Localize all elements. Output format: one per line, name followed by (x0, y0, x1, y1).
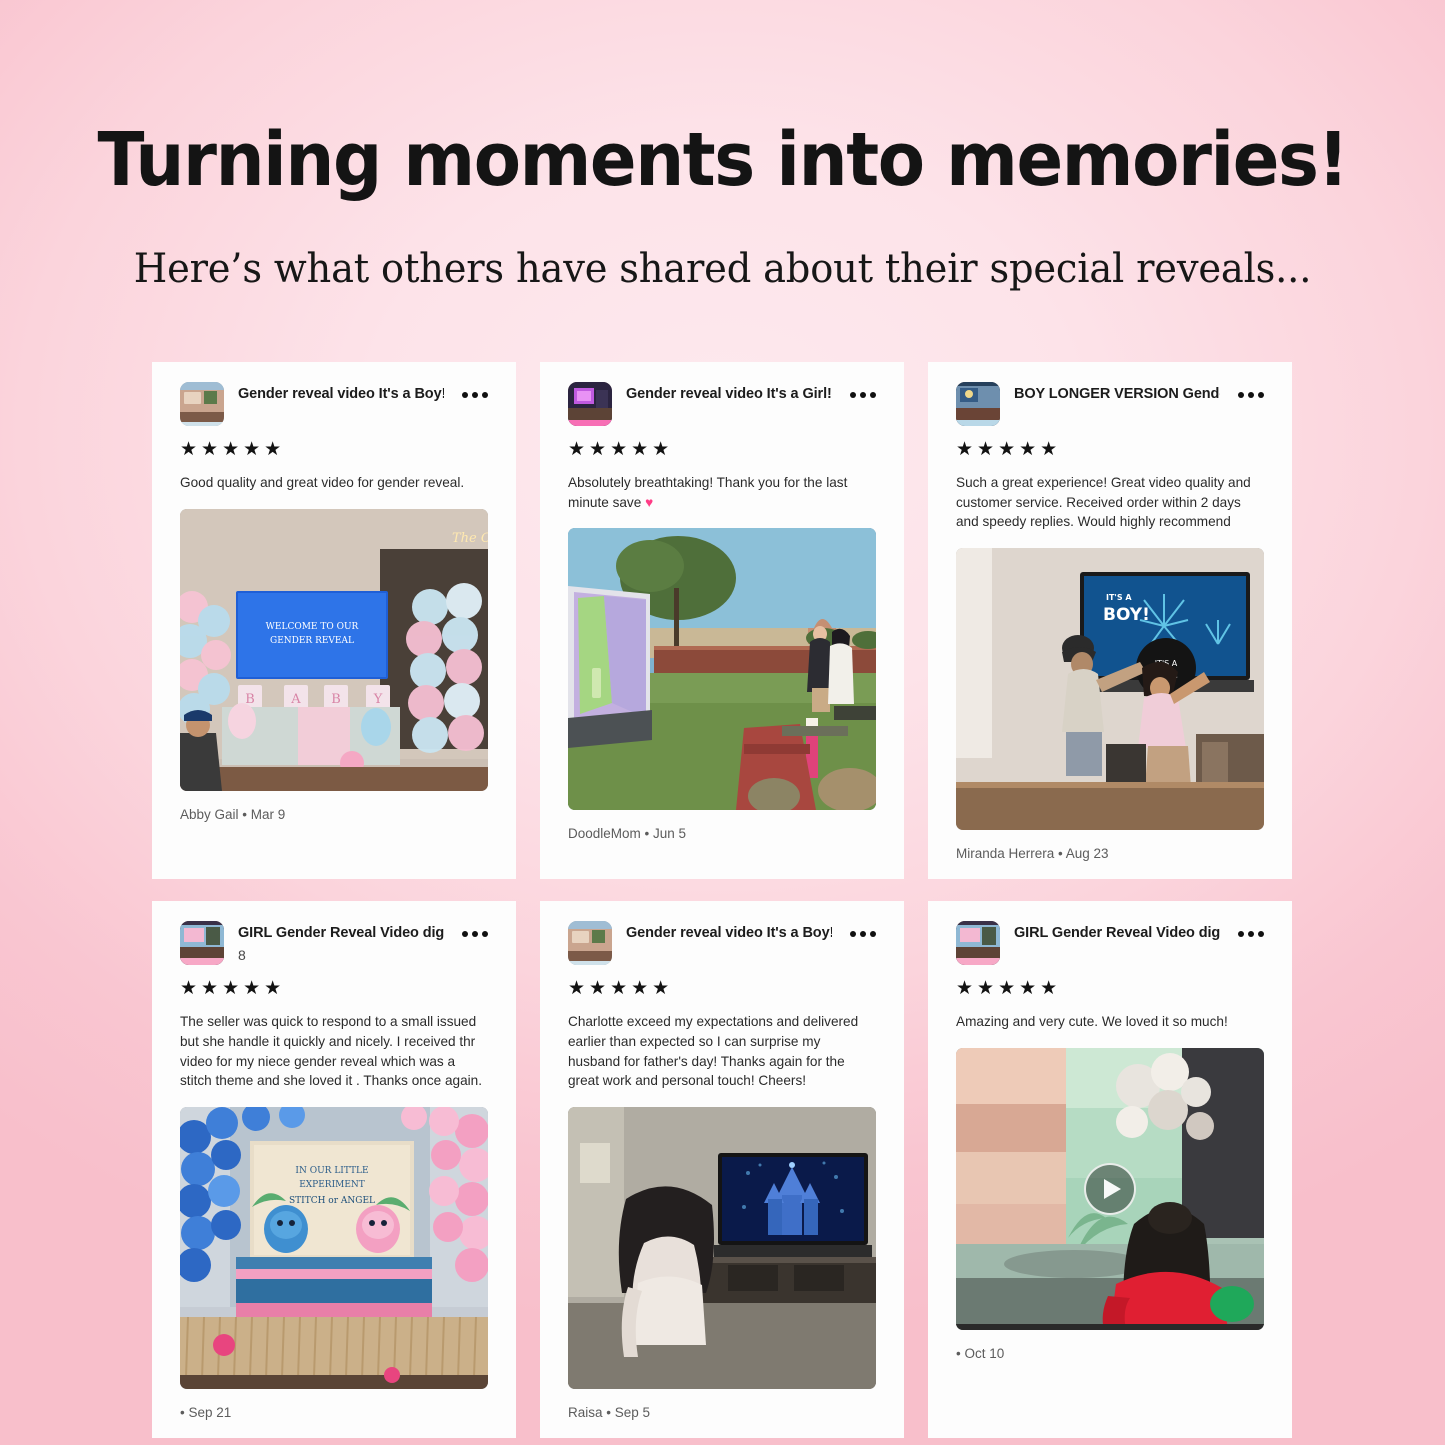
more-horizontal-icon[interactable] (1238, 921, 1264, 937)
review-video-thumbnail[interactable] (956, 1048, 1264, 1330)
listing-title[interactable]: GIRL Gender Reveal Video digital ... (1014, 924, 1220, 942)
review-text: The seller was quick to respond to a sma… (180, 1012, 488, 1091)
review-card-header: GIRL Gender Reveal Video digital ... 8 (180, 921, 488, 965)
listing-info: GIRL Gender Reveal Video digital ... (1014, 921, 1220, 942)
review-card[interactable]: BOY LONGER VERSION Gender ... ★★★★★ Such… (928, 362, 1292, 879)
review-card[interactable]: GIRL Gender Reveal Video digital ... 8 ★… (152, 901, 516, 1438)
svg-text:BOY!: BOY! (1103, 605, 1150, 625)
review-text: Amazing and very cute. We loved it so mu… (956, 1012, 1264, 1032)
page-title: Turning moments into memories! (51, 122, 1395, 200)
star-rating: ★★★★★ (180, 440, 488, 459)
review-byline: Miranda Herrera • Aug 23 (956, 846, 1264, 861)
listing-thumbnail[interactable] (180, 921, 224, 965)
review-card-header: Gender reveal video It's a Girl! Vide... (568, 382, 876, 426)
review-photo[interactable]: The C WELCOME TO OUR GENDER REVEAL BABY (180, 509, 488, 791)
review-card[interactable]: Gender reveal video It's a Boy! Vide... … (152, 362, 516, 879)
more-horizontal-icon[interactable] (1238, 382, 1264, 398)
review-byline: DoodleMom • Jun 5 (568, 826, 876, 841)
review-text-body: Absolutely breathtaking! Thank you for t… (568, 475, 847, 510)
more-horizontal-icon[interactable] (850, 921, 876, 937)
review-photo[interactable]: IN OUR LITTLE EXPERIMENT STITCH or ANGEL (180, 1107, 488, 1389)
review-text: Good quality and great video for gender … (180, 473, 488, 493)
svg-text:GENDER REVEAL: GENDER REVEAL (270, 636, 354, 646)
listing-title[interactable]: Gender reveal video It's a Girl! Vide... (626, 385, 832, 403)
review-card-header: GIRL Gender Reveal Video digital ... (956, 921, 1264, 965)
listing-thumbnail[interactable] (568, 921, 612, 965)
review-photo[interactable] (568, 1107, 876, 1389)
listing-info: Gender reveal video It's a Boy! Vide... (238, 382, 444, 403)
svg-text:WELCOME TO OUR: WELCOME TO OUR (266, 622, 359, 632)
more-horizontal-icon[interactable] (850, 382, 876, 398)
listing-thumbnail[interactable] (956, 382, 1000, 426)
review-byline: • Oct 10 (956, 1346, 1264, 1361)
svg-text:The C: The C (452, 531, 488, 546)
review-card-header: Gender reveal video It's a Boy! Vide... (180, 382, 488, 426)
svg-text:STITCH or ANGEL: STITCH or ANGEL (289, 1196, 375, 1206)
page-header: Turning moments into memories! Here’s wh… (0, 0, 1445, 292)
svg-text:Y: Y (373, 692, 383, 707)
more-horizontal-icon[interactable] (462, 921, 488, 937)
review-card-header: Gender reveal video It's a Boy! Vide... (568, 921, 876, 965)
star-rating: ★★★★★ (568, 440, 876, 459)
listing-info: Gender reveal video It's a Boy! Vide... (626, 921, 832, 942)
review-text: Absolutely breathtaking! Thank you for t… (568, 473, 876, 512)
review-grid: Gender reveal video It's a Boy! Vide... … (152, 362, 1293, 1438)
listing-subtext: 8 (238, 947, 444, 963)
listing-title[interactable]: BOY LONGER VERSION Gender ... (1014, 385, 1220, 403)
heart-icon: ♥ (645, 495, 653, 510)
svg-text:IN OUR LITTLE: IN OUR LITTLE (295, 1166, 368, 1176)
star-rating: ★★★★★ (956, 979, 1264, 998)
review-card-header: BOY LONGER VERSION Gender ... (956, 382, 1264, 426)
listing-info: Gender reveal video It's a Girl! Vide... (626, 382, 832, 403)
svg-text:A: A (290, 692, 301, 707)
review-byline: Raisa • Sep 5 (568, 1405, 876, 1420)
review-byline: • Sep 21 (180, 1405, 488, 1420)
review-byline: Abby Gail • Mar 9 (180, 807, 488, 822)
review-card[interactable]: Gender reveal video It's a Boy! Vide... … (540, 901, 904, 1438)
review-photo[interactable] (568, 528, 876, 810)
star-rating: ★★★★★ (180, 979, 488, 998)
listing-info: GIRL Gender Reveal Video digital ... 8 (238, 921, 444, 963)
review-text: Such a great experience! Great video qua… (956, 473, 1264, 532)
page-subtitle: Here’s what others have shared about the… (29, 246, 1416, 292)
listing-info: BOY LONGER VERSION Gender ... (1014, 382, 1220, 403)
review-card[interactable]: Gender reveal video It's a Girl! Vide...… (540, 362, 904, 879)
listing-thumbnail[interactable] (568, 382, 612, 426)
svg-text:EXPERIMENT: EXPERIMENT (299, 1180, 365, 1190)
review-photo[interactable]: IT'S A BOY! IT'S A BOY! (956, 548, 1264, 830)
listing-title[interactable]: GIRL Gender Reveal Video digital ... (238, 924, 444, 942)
star-rating: ★★★★★ (568, 979, 876, 998)
listing-title[interactable]: Gender reveal video It's a Boy! Vide... (238, 385, 444, 403)
listing-thumbnail[interactable] (956, 921, 1000, 965)
star-rating: ★★★★★ (956, 440, 1264, 459)
review-card[interactable]: GIRL Gender Reveal Video digital ... ★★★… (928, 901, 1292, 1438)
play-icon[interactable] (1084, 1163, 1136, 1215)
listing-title[interactable]: Gender reveal video It's a Boy! Vide... (626, 924, 832, 942)
svg-text:B: B (331, 692, 341, 707)
listing-thumbnail[interactable] (180, 382, 224, 426)
more-horizontal-icon[interactable] (462, 382, 488, 398)
review-text: Charlotte exceed my expectations and del… (568, 1012, 876, 1091)
svg-text:IT'S A: IT'S A (1106, 593, 1132, 602)
